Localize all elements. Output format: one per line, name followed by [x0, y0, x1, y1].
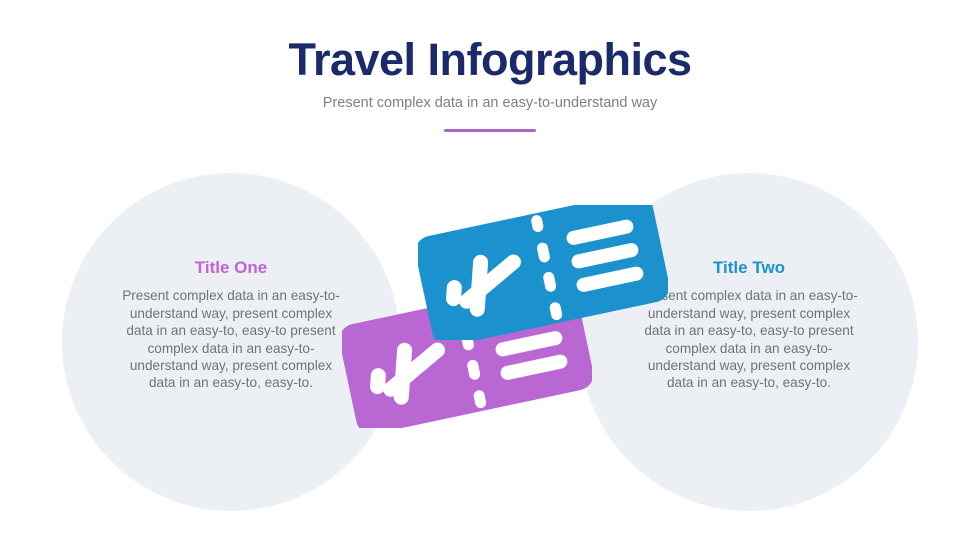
header: Travel Infographics Present complex data… — [0, 36, 980, 132]
infographic-slide: Travel Infographics Present complex data… — [0, 0, 980, 551]
ticket-illustration — [340, 195, 650, 455]
panel-title-one: Title One Present complex data in an eas… — [115, 258, 347, 392]
panel-one-title: Title One — [115, 258, 347, 278]
panel-one-body: Present complex data in an easy-to-under… — [115, 287, 347, 391]
blue-ticket — [418, 205, 668, 340]
title-divider — [444, 129, 536, 133]
page-title: Travel Infographics — [0, 36, 980, 84]
page-subtitle: Present complex data in an easy-to-under… — [0, 94, 980, 113]
